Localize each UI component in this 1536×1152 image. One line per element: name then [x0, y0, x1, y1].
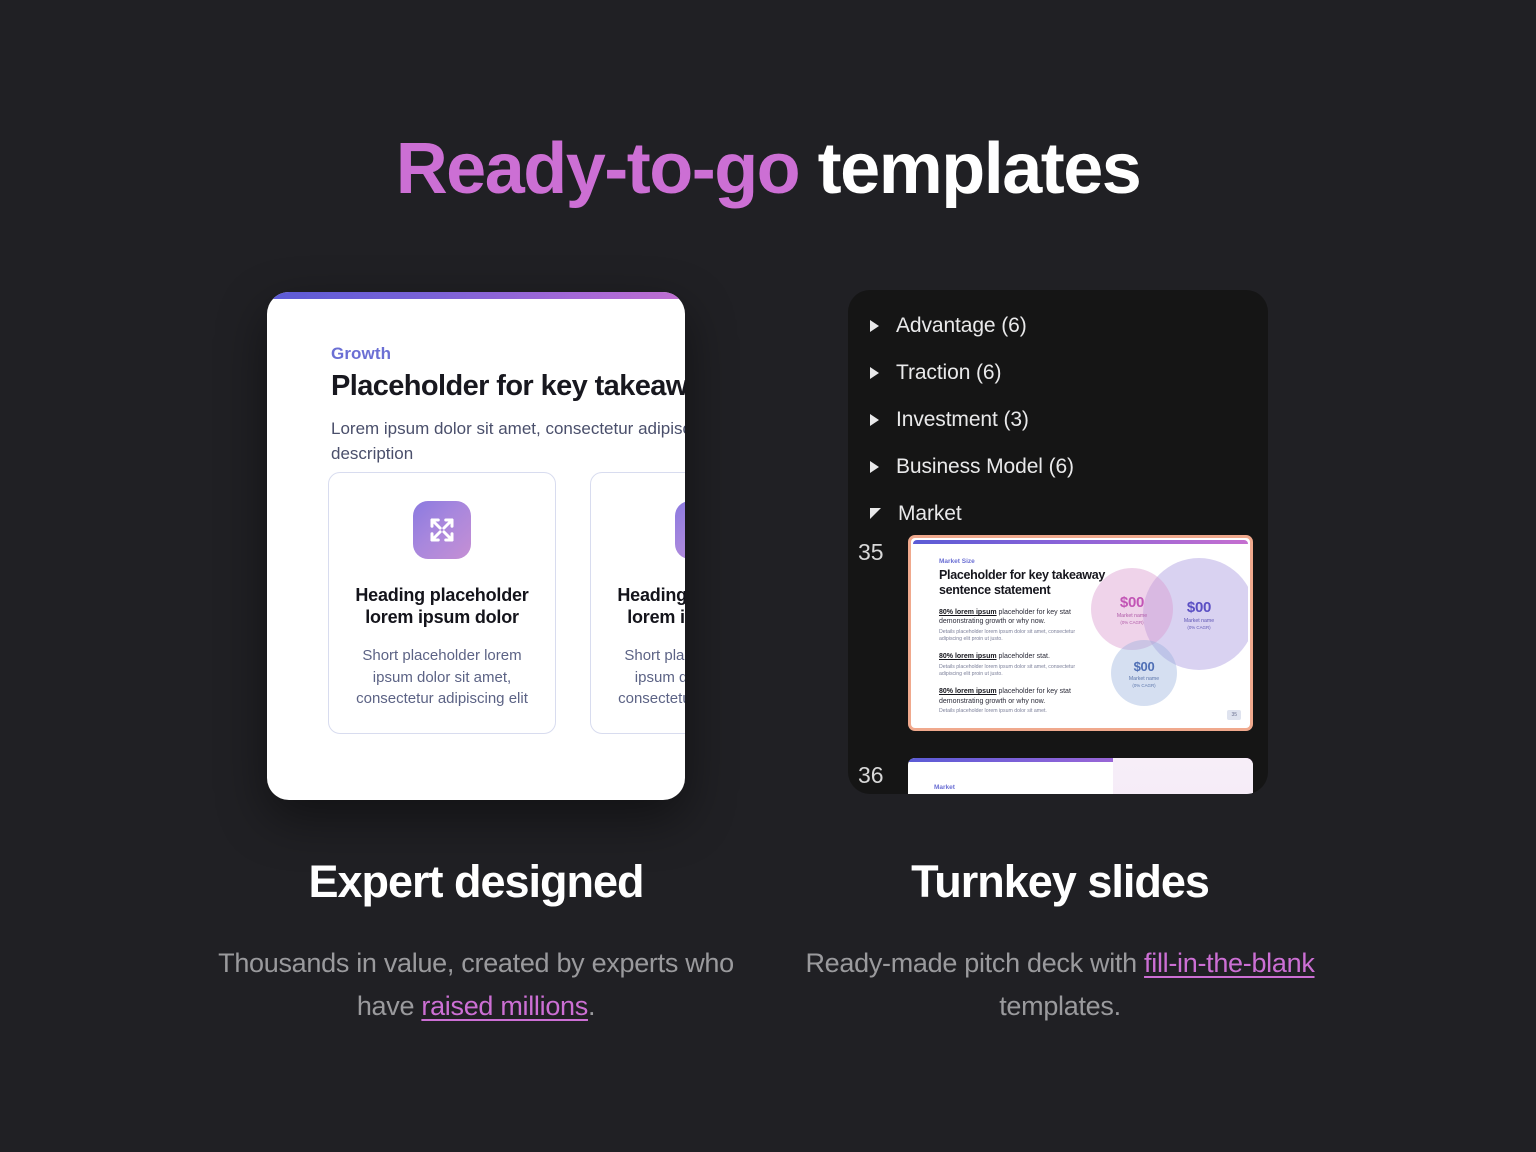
outline-item-label: Traction (6) — [896, 361, 1001, 385]
caption-title: Turnkey slides — [790, 856, 1330, 908]
slide-thumbnail-content: Market Size Placeholder for key takeaway… — [913, 540, 1248, 726]
caption-highlight-link[interactable]: fill-in-the-blank — [1144, 948, 1314, 978]
slide-bullet: 80% lorem ipsum placeholder for key stat… — [939, 687, 1099, 715]
slide-bullet-main: 80% lorem ipsum placeholder for key stat… — [939, 687, 1099, 706]
card-headline: Placeholder for key takeaway statement — [331, 370, 685, 403]
chevron-right-icon[interactable] — [870, 461, 879, 473]
page-title: Ready-to-go templates — [0, 128, 1536, 210]
sidebar-item-investment[interactable]: Investment (3) — [870, 396, 1260, 443]
slide-accent-bar — [913, 540, 1248, 544]
slide-page-chip: 35 — [1227, 710, 1241, 720]
slide-row[interactable]: 35 Market Size Placeholder for key takea… — [858, 535, 1253, 731]
sidebar-item-traction[interactable]: Traction (6) — [870, 349, 1260, 396]
slide-pink-panel — [1113, 758, 1253, 794]
chevron-right-icon[interactable] — [870, 367, 879, 379]
tile-item[interactable]: Heading placeholder lorem ipsum dolor Sh… — [328, 472, 556, 734]
tile-title: Heading placeholder lorem ipsum dolor — [349, 585, 535, 629]
card-eyebrow: Growth — [331, 344, 685, 364]
sidebar-item-business-model[interactable]: Business Model (6) — [870, 443, 1260, 490]
venn-circle-blue: $00 Market name (0% CAGR) — [1111, 640, 1177, 706]
outline-item-label: Investment (3) — [896, 408, 1029, 432]
slide-bullet-strong: 80% lorem ipsum — [939, 653, 997, 660]
caption-body-after: templates. — [999, 991, 1121, 1021]
venn-circle-pink: $00 Market name (0% CAGR) — [1091, 568, 1173, 650]
card-header: Growth Placeholder for key takeaway stat… — [331, 344, 685, 466]
caption-body-before: Ready-made pitch deck with — [805, 948, 1144, 978]
caption-body-after: . — [588, 991, 595, 1021]
slide-eyebrow: Market Size — [939, 558, 975, 565]
sidebar-item-market[interactable]: Market — [870, 490, 1260, 537]
card-accent-bar — [267, 292, 685, 299]
slide-bullets: 80% lorem ipsum placeholder for key stat… — [939, 608, 1099, 725]
slide-row[interactable]: 36 Market Placeholder for key $00B — [858, 758, 1253, 794]
chevron-down-icon[interactable] — [870, 508, 881, 519]
tile-item[interactable]: Heading placeholder lorem ipsum dolor Sh… — [590, 472, 685, 734]
page-title-rest: templates — [799, 129, 1140, 209]
page-title-accent: Ready-to-go — [396, 129, 799, 209]
slide-bullet-main: 80% lorem ipsum placeholder for key stat… — [939, 608, 1099, 627]
slide-bullet-strong: 80% lorem ipsum — [939, 609, 997, 616]
tile-title: Heading placeholder lorem ipsum dolor — [611, 585, 685, 629]
circle-amount: $00 — [1187, 599, 1211, 616]
arrows-out-icon — [675, 501, 685, 559]
slide-outline-list: Advantage (6) Traction (6) Investment (3… — [870, 302, 1260, 537]
slide-bullet: 80% lorem ipsum placeholder for key stat… — [939, 608, 1099, 643]
caption-turnkey-slides: Turnkey slides Ready-made pitch deck wit… — [790, 856, 1330, 1028]
chevron-right-icon[interactable] — [870, 320, 879, 332]
slide-eyebrow: Market — [934, 784, 955, 791]
slide-bullet-strong: 80% lorem ipsum — [939, 688, 997, 695]
sidebar-item-advantage[interactable]: Advantage (6) — [870, 302, 1260, 349]
slide-bullet: 80% lorem ipsum placeholder stat. Detail… — [939, 652, 1099, 678]
card-tiles: Heading placeholder lorem ipsum dolor Sh… — [328, 472, 685, 734]
expert-designed-preview-card[interactable]: Growth Placeholder for key takeaway stat… — [267, 292, 685, 800]
arrows-out-icon — [413, 501, 471, 559]
turnkey-slides-outline-panel[interactable]: Advantage (6) Traction (6) Investment (3… — [848, 290, 1268, 794]
slide-bullet-sub: Details placeholder lorem ipsum dolor si… — [939, 629, 1099, 644]
circle-cagr: (0% CAGR) — [1187, 625, 1210, 630]
circle-market-name: Market name — [1184, 618, 1214, 624]
outline-item-label: Market — [898, 502, 962, 526]
caption-title: Expert designed — [196, 856, 756, 908]
circle-market-name: Market name — [1129, 676, 1159, 682]
circle-amount: $00 — [1134, 659, 1155, 674]
circle-market-name: Market name — [1117, 613, 1147, 619]
tile-text: Short placeholder lorem ipsum dolor sit … — [611, 645, 685, 710]
slide-bullet-sub: Details placeholder lorem ipsum dolor si… — [939, 664, 1099, 679]
tile-text: Short placeholder lorem ipsum dolor sit … — [349, 645, 535, 710]
slide-number: 36 — [858, 758, 892, 789]
chevron-right-icon[interactable] — [870, 414, 879, 426]
slide-bullet-sub: Details placeholder lorem ipsum dolor si… — [939, 708, 1099, 715]
slide-headline: Placeholder for key — [934, 793, 1048, 794]
caption-expert-designed: Expert designed Thousands in value, crea… — [196, 856, 756, 1028]
circle-cagr: (0% CAGR) — [1132, 683, 1155, 688]
slide-bullet-rest: placeholder stat. — [997, 653, 1050, 660]
circle-cagr: (0% CAGR) — [1120, 620, 1143, 625]
caption-body: Ready-made pitch deck with fill-in-the-b… — [790, 942, 1330, 1028]
slide-thumbnail-36[interactable]: Market Placeholder for key $00B — [908, 758, 1253, 794]
slide-thumbnail-35[interactable]: Market Size Placeholder for key takeaway… — [908, 535, 1253, 731]
page-root: Ready-to-go templates Growth Placeholder… — [0, 0, 1536, 1152]
caption-body: Thousands in value, created by experts w… — [196, 942, 756, 1028]
outline-item-label: Business Model (6) — [896, 455, 1074, 479]
slide-bullet-main: 80% lorem ipsum placeholder stat. — [939, 652, 1099, 661]
circle-amount: $00 — [1120, 594, 1144, 611]
slide-number: 35 — [858, 535, 892, 566]
outline-item-label: Advantage (6) — [896, 314, 1027, 338]
card-subtitle: Lorem ipsum dolor sit amet, consectetur … — [331, 417, 685, 466]
caption-highlight-link[interactable]: raised millions — [421, 991, 588, 1021]
